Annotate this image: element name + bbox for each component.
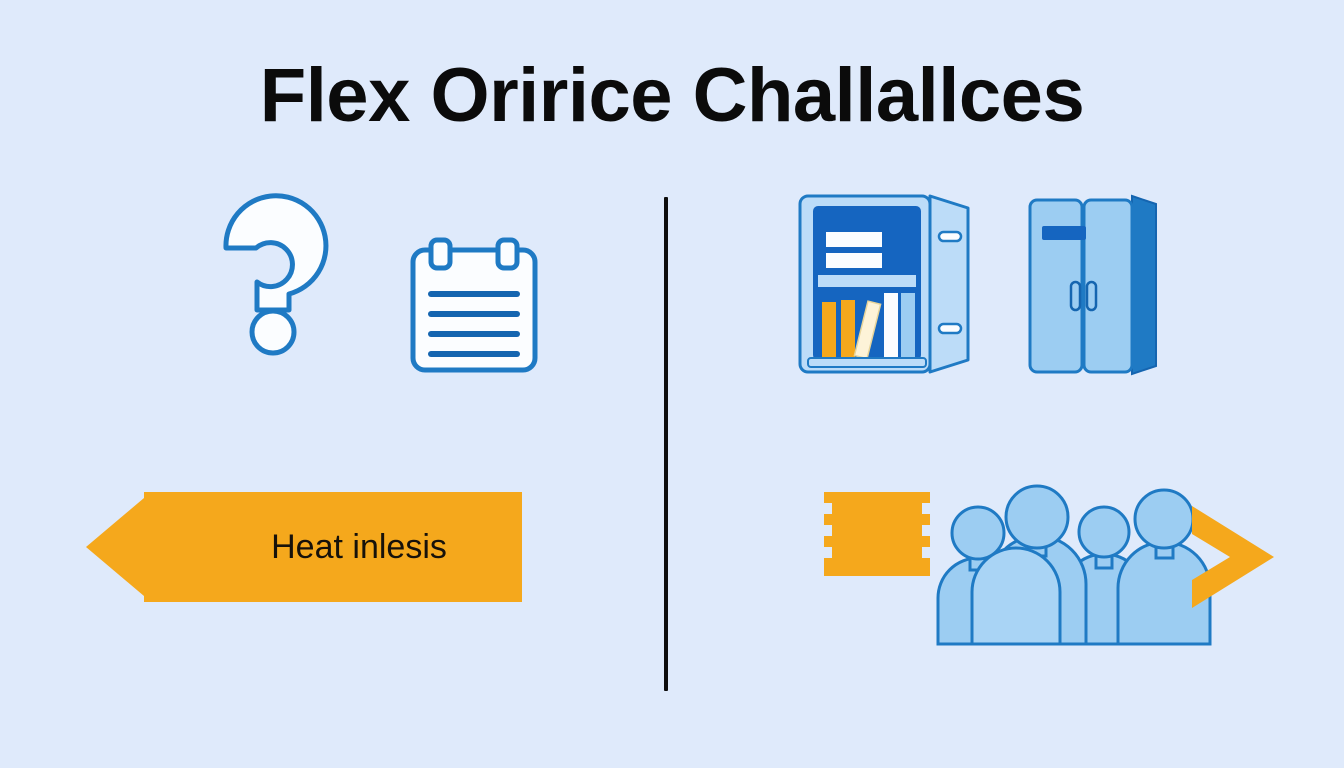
slide-canvas: Flex Oririce Challallces: [0, 0, 1344, 768]
cabinet-folder-1: [826, 232, 882, 247]
cabinet-label-plate: [1042, 226, 1086, 240]
cabinet-shelf-bar: [818, 275, 916, 287]
banner-label: Heat inlesis: [206, 486, 522, 608]
page-title: Flex Oririce Challallces: [0, 48, 1344, 144]
cabinet-door: [930, 196, 968, 372]
vertical-divider: [664, 197, 668, 691]
closed-cabinet-icon: [1024, 190, 1174, 380]
clipboard-icon: [406, 236, 542, 376]
clipboard-clip-left: [431, 240, 450, 268]
cabinet-door-handle-bottom: [939, 324, 961, 333]
chevron-right-icon: [1188, 504, 1278, 610]
open-cabinet-icon: [796, 190, 976, 380]
cabinet-handle-right: [1087, 282, 1096, 310]
cabinet-folder-2: [826, 253, 882, 268]
person-front-center: [972, 548, 1060, 644]
cabinet-handle-left: [1071, 282, 1080, 310]
cabinet-door-handle-top: [939, 232, 961, 241]
perforated-ticket-icon: [818, 490, 936, 578]
heat-inlesis-banner: Heat inlesis: [86, 486, 522, 608]
question-mark-icon: [214, 186, 342, 356]
people-group-icon: [932, 492, 1204, 644]
cabinet-side-panel: [1132, 196, 1156, 374]
cabinet-books: [822, 293, 915, 359]
clipboard-clip-right: [498, 240, 517, 268]
